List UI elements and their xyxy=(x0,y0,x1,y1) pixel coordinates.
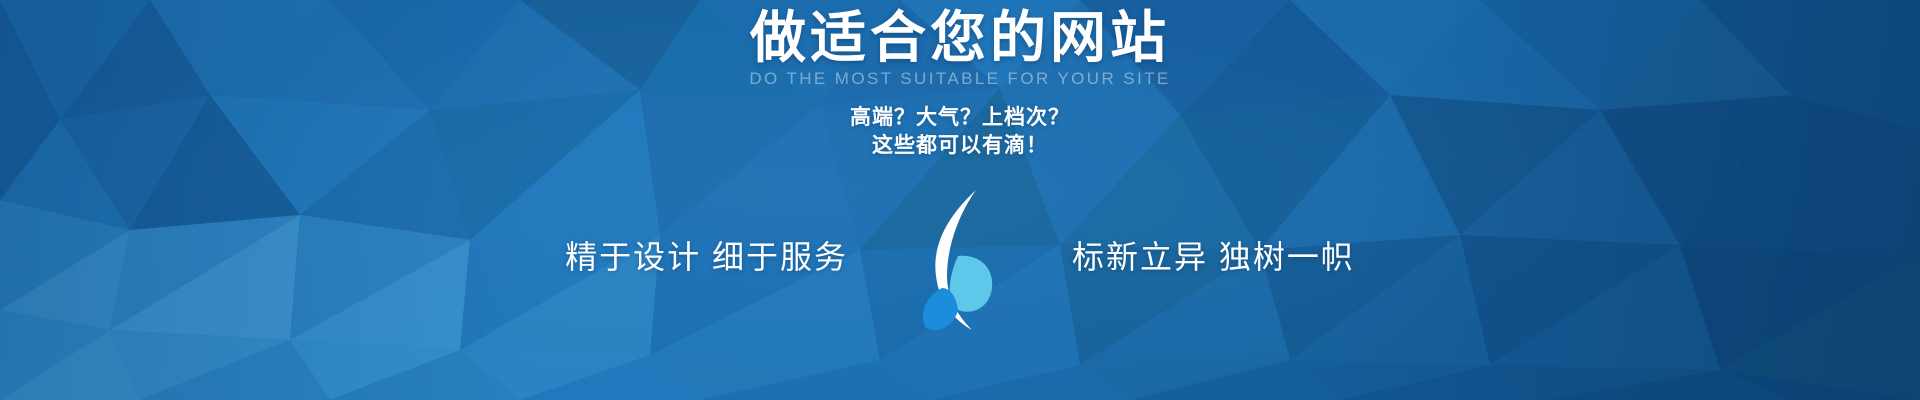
swan-leaf-logo xyxy=(906,184,1014,334)
punch-line-2: 这些都可以有滴！ xyxy=(850,132,1070,160)
slogan-right: 标新立异 独树一帜 xyxy=(1072,241,1355,273)
hero-banner: 做适合您的网站 DO THE MOST SUITABLE FOR YOUR SI… xyxy=(0,0,1920,400)
slogan-left: 精于设计 细于服务 xyxy=(565,241,848,273)
banner-punch-block: 高端？大气？上档次？ 这些都可以有滴！ xyxy=(850,104,1070,160)
slogan-row: 精于设计 细于服务 标新立异 独树一帜 xyxy=(565,180,1355,334)
banner-subtitle-english: DO THE MOST SUITABLE FOR YOUR SITE xyxy=(749,70,1170,87)
punch-line-1: 高端？大气？上档次？ xyxy=(850,104,1070,132)
banner-content: 做适合您的网站 DO THE MOST SUITABLE FOR YOUR SI… xyxy=(0,0,1920,400)
page-title: 做适合您的网站 xyxy=(750,8,1170,68)
